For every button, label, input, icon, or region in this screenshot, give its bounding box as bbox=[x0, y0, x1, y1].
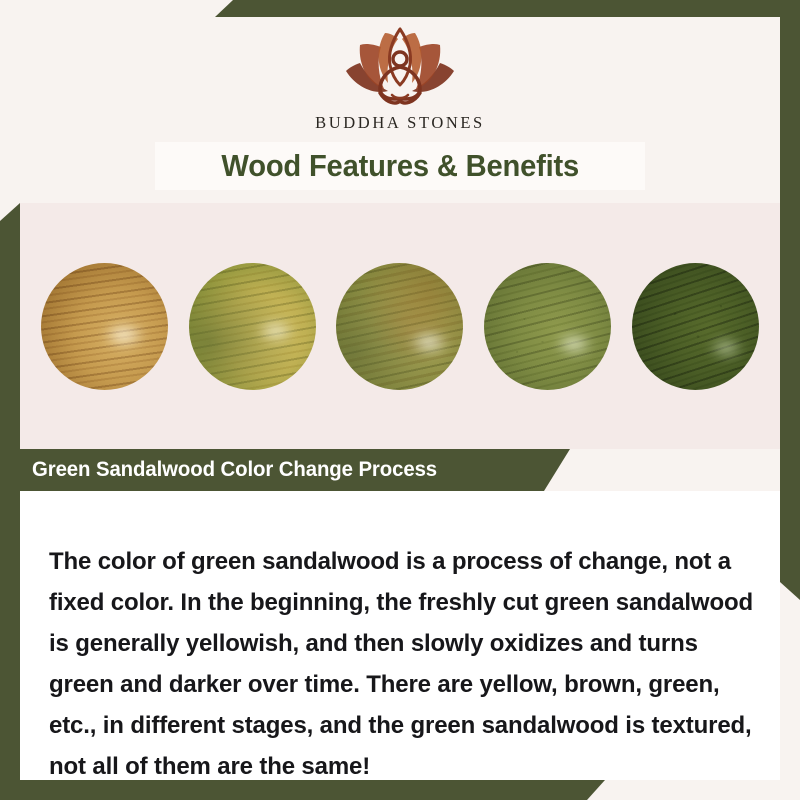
frame-band-top bbox=[215, 0, 800, 17]
frame-band-left bbox=[0, 203, 20, 800]
section-subtitle-ribbon: Green Sandalwood Color Change Process bbox=[20, 449, 570, 491]
brand-name: BUDDHA STONES bbox=[20, 113, 780, 133]
bead-speckle bbox=[336, 263, 463, 390]
bead-highlight bbox=[408, 329, 450, 356]
bead-highlight bbox=[102, 321, 146, 349]
bead-highlight bbox=[554, 331, 594, 357]
wood-bead-dark-green bbox=[632, 263, 759, 390]
brand-logo: BUDDHA STONES bbox=[20, 25, 780, 133]
frame-band-right bbox=[780, 0, 800, 600]
wood-bead-olive-green bbox=[484, 263, 611, 390]
bead-showcase-panel bbox=[20, 203, 780, 449]
section-subtitle: Green Sandalwood Color Change Process bbox=[32, 458, 437, 482]
bead-speckle bbox=[41, 263, 168, 390]
title-banner: Wood Features & Benefits bbox=[155, 142, 645, 190]
body-text-panel: The color of green sandalwood is a proce… bbox=[20, 491, 780, 780]
wood-bead-golden-yellow bbox=[41, 263, 168, 390]
body-paragraph: The color of green sandalwood is a proce… bbox=[49, 541, 756, 787]
poster-canvas: BUDDHA STONES Wood Features & Benefits bbox=[0, 0, 800, 800]
page-title: Wood Features & Benefits bbox=[221, 148, 579, 184]
bead-row bbox=[20, 203, 780, 449]
bead-speckle bbox=[484, 263, 611, 390]
bead-speckle bbox=[632, 263, 759, 390]
wood-bead-olive-brown bbox=[336, 263, 463, 390]
bead-speckle bbox=[189, 263, 316, 390]
lotus-meditation-figure-icon bbox=[330, 25, 470, 111]
wood-bead-yellow-green bbox=[189, 263, 316, 390]
